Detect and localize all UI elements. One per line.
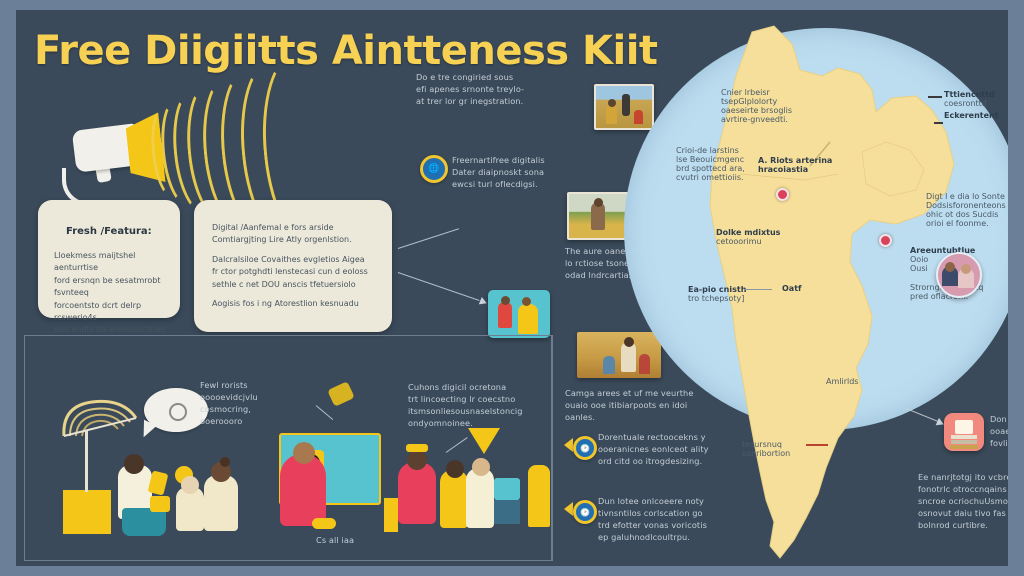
map-label-subline: cetooorimu [716,237,806,246]
avatar-face [961,264,971,274]
map-note-line: fonotrlc otroccnqains [918,484,1008,496]
photo-thumbnail-meditation[interactable] [567,192,629,240]
map-note-line: sonribortion [742,449,818,458]
card-body-line [212,291,380,298]
badge-note-line: Freernartifree digitalis [452,155,572,167]
figure-hair-bun [220,457,230,467]
header-note-line: efi apenes srnonte treylo- [416,84,576,96]
desk-stand [494,500,520,524]
map-note-bottom-left: tesursnuq sonribortion [742,440,818,458]
thumb-figure-right [518,304,538,334]
antenna-dish-icon [58,396,140,446]
badge-note-text: Freernartifree digitalis Dater diaipnosk… [452,155,572,191]
map-note-line: brd spottecd ara, [676,164,760,173]
map-note-subline: coesronttd [944,99,1008,108]
connector-line [398,228,459,249]
figure-device [150,496,170,512]
connector-line [398,272,480,301]
clock-badge-icon[interactable]: 🕑 [573,436,597,460]
panel-note-left: Fewl rorists ooooevidcjvlu cosmocring, o… [200,380,270,428]
map-note-line: oaeseirte brsoglis [721,106,811,115]
map-pin-east-coast[interactable] [879,234,892,247]
map-label-line: Dolke mdixtus [716,228,806,237]
map-label-coastal: Dolke mdixtus cetooorimu [716,228,806,246]
chair-icon [528,465,550,527]
figure-head [124,454,144,474]
map-note-subline: Eckerentent [944,111,1008,120]
panel-note-line: Cuhons digicil ocretona [408,382,518,394]
thumb-head-left [501,296,510,305]
map-note-line: Crioi-de larstins [676,146,760,155]
panel-caption-line: Cs all iaa [316,535,354,547]
card-body-line: forcoentsto dcrt delrp rcswerio4s [54,300,168,325]
bullet-arrow-icon [564,502,573,516]
card-body-line: fr ctor potghdti lenstecasi cun d eoloss [212,266,380,278]
books-icon[interactable] [944,413,984,451]
map-note-line: ooaeEord [990,426,1008,438]
map-note-line: Ee nanrjtotgj ito vcbrea [918,472,1008,484]
figure-head [181,476,199,494]
map-label-line: Amlirlds [826,377,858,386]
map-note-line: fovlicsni. [990,438,1008,450]
figure-shoe [312,518,336,529]
figure-child [440,470,468,528]
header-note-line: Do e tre congiried sous [416,72,576,84]
panel-caption-tv: Cs all iaa [316,535,354,547]
card-body-line: Dalcralsiloe Covaithes evgletios Aigea [212,254,380,266]
panel-divider [552,335,553,561]
map-label-subline: tro tchepsoty] [688,294,776,303]
map-label-line: hracoiastia [758,165,858,174]
map-label-line: A. Riots arterina [758,156,858,165]
photo-figure [603,356,615,374]
map-leader-line [806,444,828,446]
books-page [955,420,973,434]
video-thumbnail[interactable] [488,290,550,338]
figure-head [472,458,490,476]
map-note-line: ohic ot dos Sucdis [926,210,1008,219]
card-body-line: sethle c net DOU anscis tfetuersiolo [212,279,380,291]
infographic-poster: Free Diigiitts Aintteness Kiit Do e tre … [0,0,1024,576]
map-leader-line [744,289,772,290]
panel-note-line: itsmsonliesousnaselstoncig [408,406,518,418]
map-note-bottom-right: Ee nanrjtotgj ito vcbrea fonotrlc otrocc… [918,472,1008,531]
page-title: Free Diigiitts Aintteness Kiit [34,28,658,74]
card-body-line: Comtiargjting Lire Atly orgenlstion. [212,234,380,246]
figure-teacher [398,462,436,524]
card-body-line: Digital /Aanfemal e fors arside [212,222,380,234]
books-stack [950,445,978,449]
poster-canvas: Free Diigiitts Aintteness Kiit Do e tre … [16,10,1008,566]
speech-bubble-glyph-icon [169,403,187,421]
map-note-line: Don dben [990,414,1008,426]
map-note-line: avrtire-gnveedti. [721,115,811,124]
photo-figure [606,104,617,124]
fresh-feature-card-title: Fresh /Featura: [66,226,152,237]
card-body-line [212,247,380,254]
globe-glyph-icon: 🌐 [423,158,445,180]
map-note-line: cvutri omettioiis. [676,173,760,182]
map-note-line: orioi el foonme. [926,219,1008,228]
clock-badge-icon[interactable]: 🕑 [573,500,597,524]
antenna-stand-base [63,490,111,534]
map-leader-line [928,96,942,98]
map-label-capital: A. Riots arterina hracoiastia [758,156,858,174]
figure-presenter [280,454,326,526]
desk-monitor [494,478,520,500]
card-body-line: ford ersnqn be sesatmrobt fsvnteeq [54,275,168,300]
books-stack [951,440,977,444]
connector-arrowhead-icon [479,297,488,307]
panel-note-right: Cuhons digicil ocretona trt lincoecting … [408,382,518,430]
map-note-line: osnovut daiu tivo fas da [918,508,1008,520]
map-label-south: Amlirlds [826,377,858,386]
card-body-line: Lloekmess maijtshel aenturrtise [54,250,168,275]
map-note-line: bolnrod curtibre. [918,520,1008,532]
map-note-line: lse Beouicmgenc [676,155,760,164]
card-body-line: Aogisis fos i ng Atorestlion kesnuadu [212,298,380,310]
map-label-interior: Ea-pio cnisth tro tchepsoty] [688,285,776,303]
avatar[interactable] [936,252,982,298]
map-note-line: Tttiencnttd [944,90,1008,99]
clock-glyph-icon: 🕑 [576,503,594,521]
map-note-line: Dodsisforonenteons [926,201,1008,210]
digital-antenna-card: Digital /Aanfemal e fors arside Comtiarg… [194,200,392,332]
megaphone-illustration [56,72,306,212]
thumb-figure-left [498,302,512,328]
map-note-far-northeast: Tttiencnttd coesronttd Eckerentent [944,90,1008,120]
figure-adult-right [204,475,238,531]
map-pin-capital[interactable] [776,188,789,201]
map-note-books: Don dben ooaeEord fovlicsni. [990,414,1008,450]
map-note-line: Cnier lrbeisr [721,88,811,97]
map-leader-line [934,122,943,124]
map-note-northwest: Cnier lrbeisr tsepGlplolorty oaeseirte b… [721,88,811,124]
clock-glyph-icon: 🕑 [576,439,594,457]
photo-figure [608,99,616,107]
header-note: Do e tre congiried sous efi apenes srnon… [416,72,576,108]
map-label-center: Oatf [782,284,802,293]
figure-legs [122,508,166,536]
panel-note-line: ooeroooro [200,416,270,428]
figure-head [407,450,427,470]
fresh-feature-card-body: Lloekmess maijtshel aenturrtise ford ers… [54,250,168,337]
map-note-line: Digt l e dia lo Sonte [926,192,1008,201]
badge-note-line: ewcsi turl oflecdigsi. [452,179,572,191]
header-note-line: at trer lor gr inegstration. [416,96,576,108]
globe-badge-icon[interactable]: 🌐 [420,155,448,183]
avatar-face [945,262,955,272]
map-note-west: Crioi-de larstins lse Beouicmgenc brd sp… [676,146,760,182]
figure-head [446,460,464,478]
fresh-feature-card: Fresh /Featura: Lloekmess maijtshel aent… [38,200,180,318]
figure-head [293,442,315,464]
digital-antenna-card-body: Digital /Aanfemal e fors arside Comtiarg… [212,222,380,310]
map-note-east: Digt l e dia lo Sonte Dodsisforonenteons… [926,192,1008,228]
panel-note-line: trt lincoecting lr coecstno [408,394,518,406]
map-note-line: sncroe ocriochuUsmoe [918,496,1008,508]
badge-note-line: Dater diaipnoskt sona [452,167,572,179]
figure-chair [384,498,398,532]
map-label-line: Oatf [782,284,802,293]
signal-cone-icon [468,428,500,454]
bullet-arrow-icon [564,438,573,452]
thumb-head-right [522,297,531,306]
figure-hat-icon [406,444,428,452]
map-note-line: tsepGlplolorty [721,97,811,106]
panel-note-line: Fewl rorists [200,380,270,392]
photo-figure [594,198,603,207]
books-stack [951,435,977,439]
panel-note-line: ooooevidcjvlu [200,392,270,404]
panel-note-line: ondyomnoinee. [408,418,518,430]
panel-note-line: cosmocring, [200,404,270,416]
figure-child [466,468,494,528]
